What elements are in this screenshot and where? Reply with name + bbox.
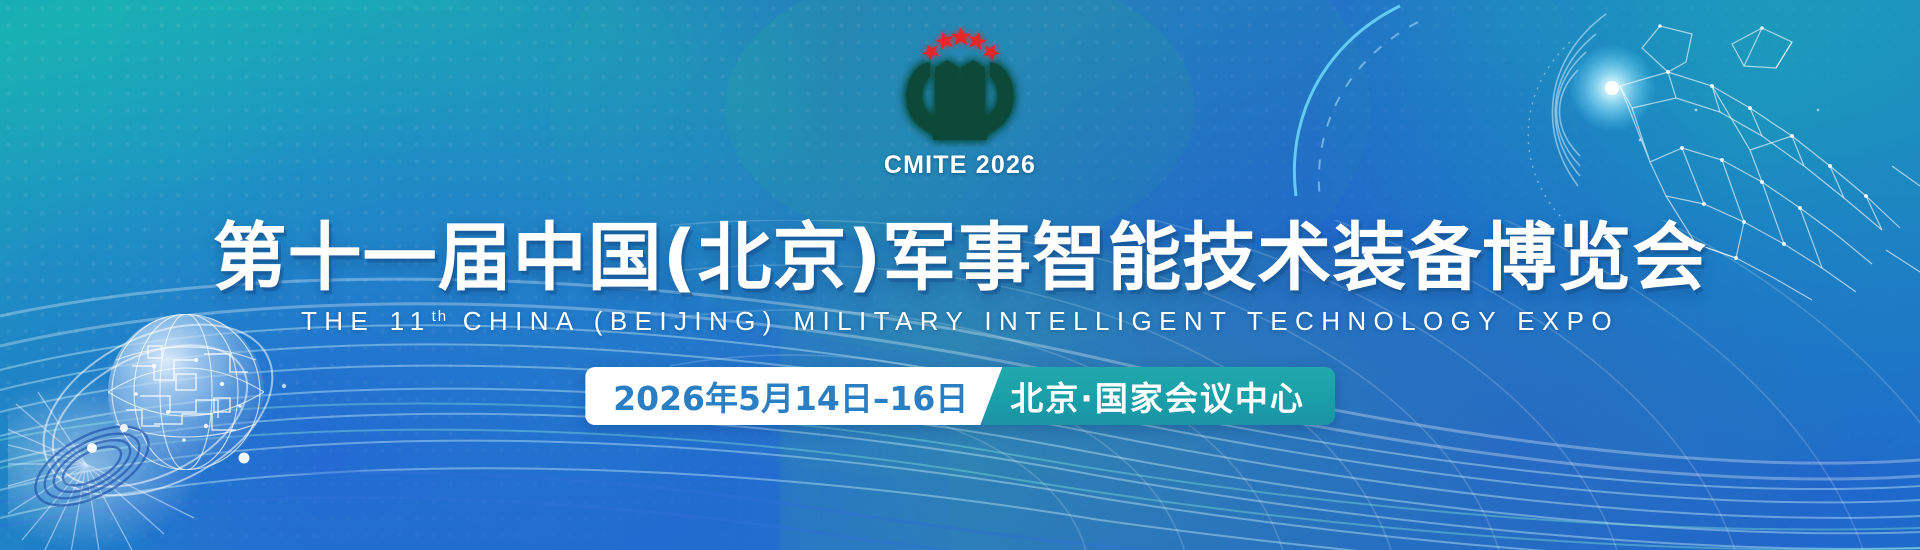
subtitle-ordinal: th — [432, 308, 449, 325]
logo-caption: CMITE 2026 — [800, 151, 1120, 180]
five-stars-icon — [919, 27, 1002, 62]
date-venue-pill: 2026年5月14日–16日 北京·国家会议中心 — [585, 367, 1335, 425]
subtitle-suffix: CHINA (BEIJING) MILITARY INTELLIGENT TEC… — [463, 306, 1619, 336]
event-date: 2026年5月14日–16日 — [585, 367, 1002, 425]
event-venue: 北京·国家会议中心 — [984, 367, 1335, 425]
expo-banner: CMITE 2026 第十一届中国(北京)军事智能技术装备博览会 THE 11t… — [0, 0, 1920, 550]
cmite-shield-emblem-icon — [885, 22, 1035, 147]
subtitle-prefix: THE 11 — [301, 306, 432, 336]
event-logo: CMITE 2026 — [800, 22, 1120, 180]
page-title-chinese: 第十一届中国(北京)军事智能技术装备博览会 — [0, 214, 1920, 302]
page-subtitle-english: THE 11th CHINA (BEIJING) MILITARY INTELL… — [0, 306, 1920, 337]
